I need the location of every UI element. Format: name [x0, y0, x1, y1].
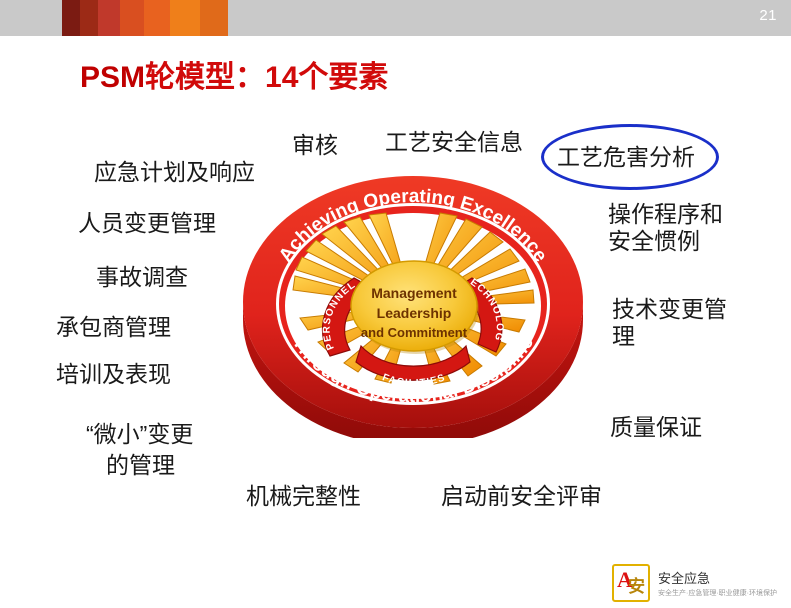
watermark-subtitle: 安全生产·应急管理·职业健康·环境保护 — [658, 588, 777, 598]
header-swatch-5 — [144, 0, 170, 36]
header-swatch-4 — [120, 0, 144, 36]
label-audit: 审核 — [292, 131, 338, 160]
psm-wheel-diagram: Management Leadership and Commitment Ach… — [238, 170, 588, 438]
label-pre-startup-safety-review: 启动前安全评审 — [441, 482, 602, 511]
header-swatch-7 — [200, 0, 228, 36]
label-quality-assurance: 质量保证 — [610, 413, 702, 442]
wheel-core-line2: Leadership — [377, 305, 452, 321]
label-safe-practices-line2: 安全惯例 — [608, 227, 700, 256]
watermark-title: 安全应急 — [658, 568, 777, 587]
label-technical-change-mgmt-line2: 理 — [612, 322, 635, 351]
label-emergency-plan-response: 应急计划及响应 — [94, 158, 255, 187]
slide-number: 21 — [759, 7, 777, 24]
label-mechanical-integrity: 机械完整性 — [246, 482, 361, 511]
label-minor-change-mgmt-line2: 的管理 — [106, 451, 175, 480]
page-title: PSM轮模型：14个要素 — [80, 52, 388, 96]
watermark-logo-icon: A 安 — [612, 564, 650, 602]
page-title-prefix: PSM — [80, 61, 145, 94]
page-title-rest: 轮模型：14个要素 — [145, 61, 388, 94]
label-process-safety-info: 工艺安全信息 — [385, 128, 523, 157]
label-technical-change-mgmt-line1: 技术变更管 — [612, 295, 727, 324]
header-swatch-1 — [62, 0, 80, 36]
label-operating-procedures-line1: 操作程序和 — [608, 200, 723, 229]
label-personnel-change-management: 人员变更管理 — [78, 209, 216, 238]
wheel-core-line1: Management — [371, 285, 457, 301]
header-swatch-2 — [80, 0, 98, 36]
label-training-performance: 培训及表现 — [56, 360, 171, 389]
label-minor-change-mgmt-line1: “微小”变更 — [86, 420, 193, 449]
slide-header-bar: 21 — [0, 0, 791, 36]
label-incident-investigation: 事故调查 — [96, 263, 188, 292]
label-contractor-management: 承包商管理 — [56, 313, 171, 342]
wheel-core-line3: and Commitment — [361, 325, 468, 340]
watermark-cn-char: 安 — [628, 572, 645, 597]
footer-watermark: A 安 安全应急 安全生产·应急管理·职业健康·环境保护 — [612, 564, 777, 602]
header-swatch-3 — [98, 0, 120, 36]
header-swatch-6 — [170, 0, 200, 36]
